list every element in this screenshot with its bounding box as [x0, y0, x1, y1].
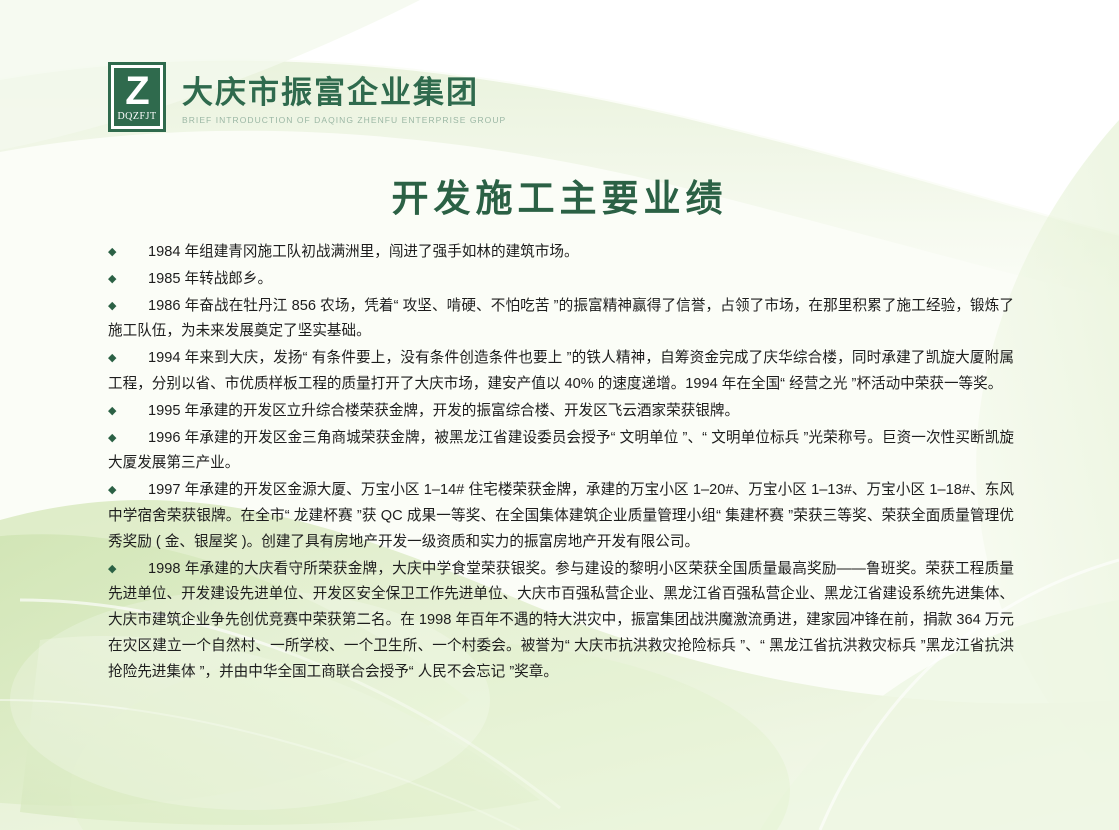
- bullet-icon: ◆: [108, 432, 120, 444]
- paragraph-text: 1985 年转战郎乡。: [148, 271, 272, 287]
- paragraph: ◆1997 年承建的开发区金源大厦、万宝小区 1–14# 住宅楼荣获金牌，承建的…: [108, 478, 1014, 555]
- bullet-icon: ◆: [108, 352, 120, 364]
- paragraph-text: 1997 年承建的开发区金源大厦、万宝小区 1–14# 住宅楼荣获金牌，承建的万…: [108, 482, 1014, 550]
- paragraph: ◆1994 年来到大庆，发扬“ 有条件要上，没有条件创造条件也要上 ”的铁人精神…: [108, 346, 1014, 398]
- paragraph: ◆1995 年承建的开发区立升综合楼荣获金牌，开发的振富综合楼、开发区飞云酒家荣…: [108, 399, 1014, 425]
- logo-letter: Z: [125, 70, 148, 112]
- brochure-page: Z DQZFJT 大庆市振富企业集团 BRIEF INTRODUCTION OF…: [0, 0, 1119, 830]
- paragraph: ◆1984 年组建青冈施工队初战满洲里，闯进了强手如林的建筑市场。: [108, 240, 1014, 266]
- logo-abbreviation: DQZFJT: [117, 111, 156, 122]
- bullet-icon: ◆: [108, 273, 120, 285]
- paragraph-text: 1995 年承建的开发区立升综合楼荣获金牌，开发的振富综合楼、开发区飞云酒家荣获…: [148, 403, 739, 419]
- bullet-icon: ◆: [108, 563, 120, 575]
- paragraph-text: 1986 年奋战在牡丹江 856 农场，凭着“ 攻坚、啃硬、不怕吃苦 ”的振富精…: [108, 298, 1014, 340]
- brand-name-en: BRIEF INTRODUCTION OF DAQING ZHENFU ENTE…: [182, 113, 506, 127]
- paragraph: ◆1996 年承建的开发区金三角商城荣获金牌，被黑龙江省建设委员会授予“ 文明单…: [108, 426, 1014, 478]
- paragraph-text: 1998 年承建的大庆看守所荣获金牌，大庆中学食堂荣获银奖。参与建设的黎明小区荣…: [108, 561, 1014, 680]
- paragraph: ◆1986 年奋战在牡丹江 856 农场，凭着“ 攻坚、啃硬、不怕吃苦 ”的振富…: [108, 294, 1014, 346]
- paragraph-text: 1996 年承建的开发区金三角商城荣获金牌，被黑龙江省建设委员会授予“ 文明单位…: [108, 430, 1014, 472]
- brand-name-cn: 大庆市振富企业集团: [182, 76, 506, 110]
- paragraph: ◆1985 年转战郎乡。: [108, 267, 1014, 293]
- paragraph: ◆1998 年承建的大庆看守所荣获金牌，大庆中学食堂荣获银奖。参与建设的黎明小区…: [108, 557, 1014, 686]
- company-logo-icon: Z DQZFJT: [108, 62, 166, 132]
- bullet-icon: ◆: [108, 484, 120, 496]
- paragraph-text: 1984 年组建青冈施工队初战满洲里，闯进了强手如林的建筑市场。: [148, 244, 579, 260]
- bullet-icon: ◆: [108, 405, 120, 417]
- brand-text-block: 大庆市振富企业集团 BRIEF INTRODUCTION OF DAQING Z…: [182, 62, 506, 127]
- page-title: 开发施工主要业绩: [0, 168, 1119, 222]
- bullet-icon: ◆: [108, 300, 120, 312]
- brand-header: Z DQZFJT 大庆市振富企业集团 BRIEF INTRODUCTION OF…: [108, 62, 506, 132]
- body-content: ◆1984 年组建青冈施工队初战满洲里，闯进了强手如林的建筑市场。 ◆1985 …: [108, 240, 1014, 687]
- paragraph-text: 1994 年来到大庆，发扬“ 有条件要上，没有条件创造条件也要上 ”的铁人精神，…: [108, 350, 1014, 392]
- bullet-icon: ◆: [108, 246, 120, 258]
